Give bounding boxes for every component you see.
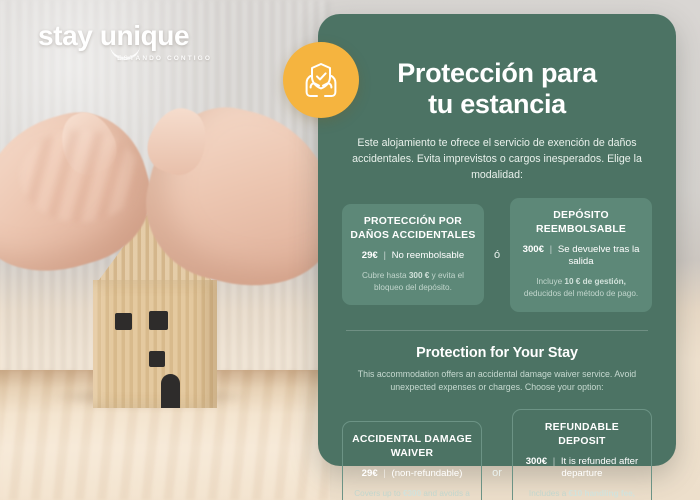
option-note-pre: Cubre hasta <box>362 271 409 280</box>
option-note-bold: €10 handling fee, <box>569 489 635 498</box>
option-card-accidental-damage-en[interactable]: ACCIDENTAL DAMAGE WAIVER 29€ | (non-refu… <box>342 421 482 500</box>
option-price-line: 29€ | (non-refundable) <box>351 468 473 480</box>
option-note: Covers up to €300 and avoids a deposit h… <box>351 488 473 500</box>
panel-intro-en: This accommodation offers an accidental … <box>347 368 647 395</box>
option-terms: No reembolsable <box>392 250 465 261</box>
option-card-refundable-deposit-en[interactable]: REFUNDABLE DEPOSIT 300€ | It is refunded… <box>512 409 652 500</box>
panel-title-line1: Protección para <box>397 58 597 88</box>
option-note: Incluye 10 € de gestión, deducidos del m… <box>518 276 644 300</box>
option-note-post: deducidos del método de pago. <box>524 289 638 298</box>
price-separator: | <box>550 244 553 255</box>
option-title: REFUNDABLE DEPOSIT <box>521 421 643 449</box>
option-price: 29€ <box>362 468 378 479</box>
panel-title: Protección para tu estancia <box>342 58 652 121</box>
option-terms: Se devuelve tras la salida <box>558 244 640 267</box>
option-price-line: 29€ | No reembolsable <box>350 250 476 262</box>
option-title: ACCIDENTAL DAMAGE WAIVER <box>351 433 473 461</box>
promo-graphic: stay unique ESTANDO CONTIGO Protección p… <box>0 0 700 500</box>
protection-panel: Protección para tu estancia Este alojami… <box>318 14 676 466</box>
option-card-refundable-deposit-es[interactable]: DEPÓSITO REEMBOLSABLE 300€ | Se devuelve… <box>510 198 652 312</box>
option-note-bold: 300 € <box>409 271 430 280</box>
option-terms: It is refunded after departure <box>561 456 638 479</box>
panel-subtitle-en: Protection for Your Stay <box>342 345 652 361</box>
option-note-pre: Covers up to <box>354 489 403 498</box>
brand-logo: stay unique ESTANDO CONTIGO <box>38 22 218 62</box>
option-price-line: 300€ | Se devuelve tras la salida <box>518 244 644 269</box>
price-separator: | <box>553 456 556 467</box>
option-terms: (non-refundable) <box>392 468 463 479</box>
options-row-en: ACCIDENTAL DAMAGE WAIVER 29€ | (non-refu… <box>342 409 652 500</box>
option-price: 300€ <box>523 244 544 255</box>
option-title: DEPÓSITO REEMBOLSABLE <box>518 209 644 237</box>
price-separator: | <box>383 250 386 261</box>
option-note-pre: Includes a <box>529 489 569 498</box>
options-row-es: PROTECCIÓN POR DAÑOS ACCIDENTALES 29€ | … <box>342 198 652 312</box>
option-price-line: 300€ | It is refunded after departure <box>521 456 643 481</box>
shield-check-in-hands-icon <box>283 42 359 118</box>
option-note-bold: 10 € de gestión, <box>564 277 625 286</box>
panel-intro-es: Este alojamiento te ofrece el servicio d… <box>342 135 652 184</box>
house-window <box>149 311 168 330</box>
option-note-bold: €300 <box>403 489 421 498</box>
brand-tagline: ESTANDO CONTIGO <box>38 55 218 62</box>
panel-title-line2: tu estancia <box>342 89 652 120</box>
option-note-pre: Incluye <box>536 277 564 286</box>
house-body <box>93 280 217 408</box>
option-card-accidental-damage-es[interactable]: PROTECCIÓN POR DAÑOS ACCIDENTALES 29€ | … <box>342 204 484 305</box>
shield-hands-glyph <box>297 56 345 104</box>
option-note: Cubre hasta 300 € y evita el bloqueo del… <box>350 270 476 294</box>
option-price: 300€ <box>526 456 547 467</box>
hand-texture <box>20 130 140 222</box>
price-separator: | <box>383 468 386 479</box>
option-note: Includes a €10 handling fee, deducted fr… <box>521 488 643 500</box>
section-divider <box>346 330 648 331</box>
house-door <box>161 374 180 408</box>
option-separator-es: ó <box>492 249 502 261</box>
option-price: 29€ <box>362 250 378 261</box>
option-separator-en: or <box>490 467 504 479</box>
option-title: PROTECCIÓN POR DAÑOS ACCIDENTALES <box>350 215 476 243</box>
house-window <box>115 313 132 330</box>
house-window <box>149 351 165 367</box>
